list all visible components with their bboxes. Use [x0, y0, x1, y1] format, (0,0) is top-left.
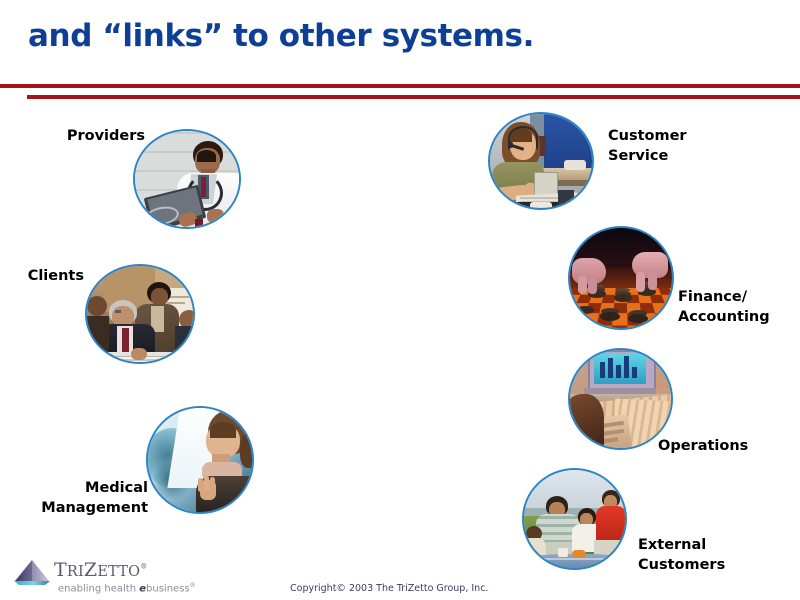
tagline-suffix: business: [146, 583, 190, 594]
node-label-clients: Clients: [0, 266, 84, 286]
node-label-providers: Providers: [0, 126, 145, 146]
logo-letter-z: Z: [84, 559, 97, 581]
trizetto-tagline: enabling health ebusiness®: [58, 582, 196, 594]
tagline-prefix: enabling health: [58, 583, 139, 594]
computer-workstation-reports-photo: [568, 348, 673, 450]
node-label-finance-accounting: Finance/ Accounting: [678, 287, 800, 327]
node-label-customer-service: Customer Service: [608, 126, 778, 166]
node-label-operations: Operations: [658, 436, 798, 456]
divider-rule-upper: [0, 84, 800, 88]
clinician-reviewing-imaging-photo: [146, 406, 254, 514]
doctor-with-clipboard-photo: [133, 129, 241, 229]
trizetto-pyramid-icon: [12, 559, 52, 587]
checkers-coins-strategy-photo: [568, 226, 674, 330]
page-title: and “links” to other systems.: [28, 18, 534, 54]
call-center-agent-photo: [488, 112, 594, 210]
tagline-e-glyph: e: [139, 583, 146, 594]
node-label-medical-management: Medical Management: [0, 478, 148, 518]
tagline-registered-mark: ®: [190, 582, 196, 589]
logo-registered-mark: ®: [140, 563, 147, 571]
logo-letters-ri: RI: [67, 564, 84, 580]
family-picnic-outdoors-photo: [522, 468, 627, 570]
logo-letter-t: T: [54, 559, 67, 581]
trizetto-logo: TRIZETTO® enabling health ebusiness®: [12, 558, 162, 596]
node-label-external-customers: External Customers: [638, 535, 788, 575]
copyright-notice: Copyright© 2003 The TriZetto Group, Inc.: [290, 583, 488, 594]
divider-rule-lower: [27, 95, 800, 99]
logo-letters-etto: ETTO: [97, 564, 140, 580]
business-meeting-photo: [85, 264, 195, 364]
trizetto-wordmark: TRIZETTO®: [54, 559, 147, 581]
